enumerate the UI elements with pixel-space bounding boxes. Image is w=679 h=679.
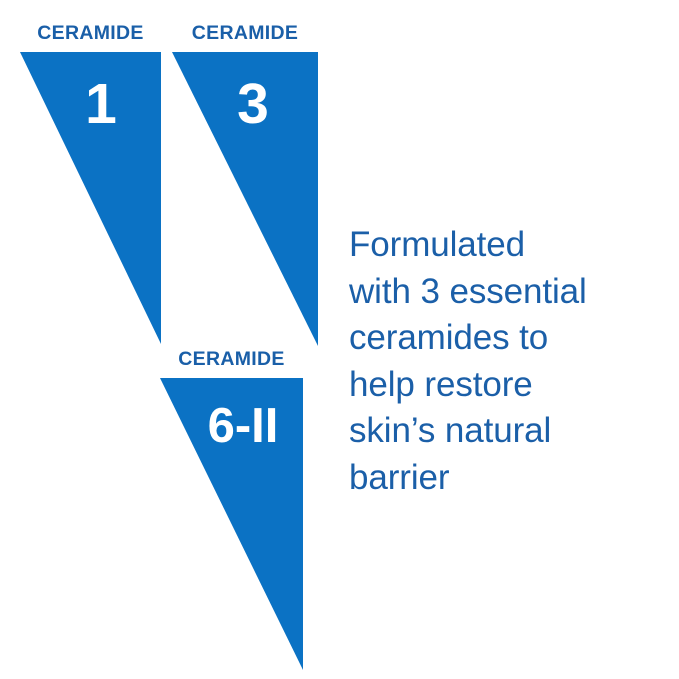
body-copy-line: ceramides to bbox=[349, 315, 655, 362]
ceramide-wedge-3-label: CERAMIDE bbox=[160, 350, 303, 370]
body-copy-line: barrier bbox=[349, 455, 655, 502]
body-copy-line: Formulated bbox=[349, 222, 655, 269]
ceramide-wedge-2: CERAMIDE 3 bbox=[172, 24, 318, 346]
body-copy-line: skin’s natural bbox=[349, 408, 655, 455]
ceramide-infographic: CERAMIDE 1 CERAMIDE 3 CERAMIDE 6-II Form… bbox=[0, 0, 679, 679]
body-copy-line: help restore bbox=[349, 362, 655, 409]
ceramide-wedge-2-label: CERAMIDE bbox=[172, 24, 318, 44]
ceramide-wedge-1-label: CERAMIDE bbox=[20, 24, 161, 44]
ceramide-wedge-1-number: 1 bbox=[72, 76, 130, 133]
body-copy-line: with 3 essential bbox=[349, 269, 655, 316]
ceramide-wedge-3: CERAMIDE 6-II bbox=[160, 350, 303, 670]
body-copy: Formulated with 3 essential ceramides to… bbox=[349, 222, 655, 501]
ceramide-wedge-2-number: 3 bbox=[224, 76, 282, 133]
ceramide-wedge-3-number: 6-II bbox=[192, 402, 294, 451]
ceramide-wedge-1: CERAMIDE 1 bbox=[20, 24, 161, 344]
